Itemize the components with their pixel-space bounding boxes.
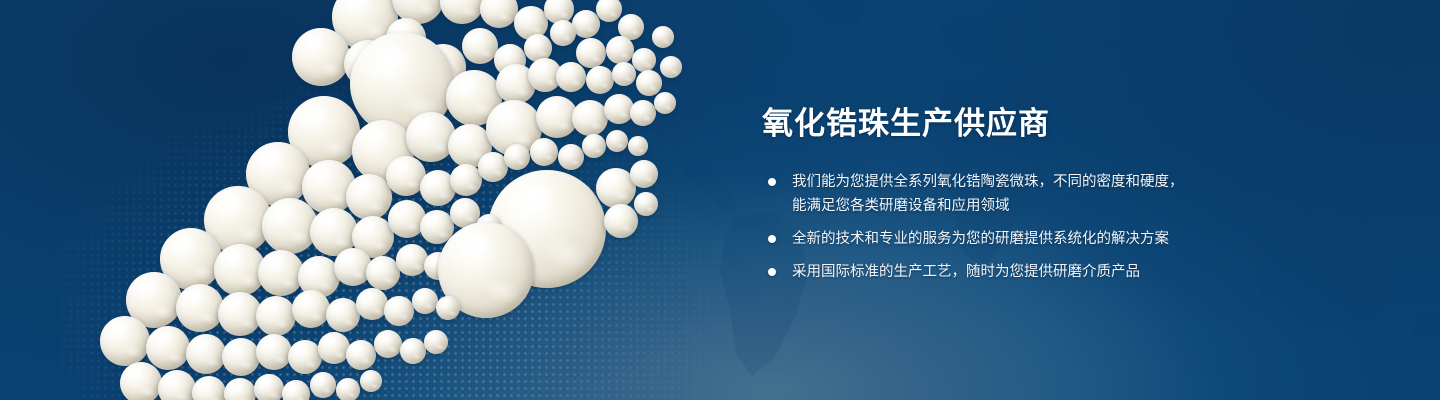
list-item: 我们能为您提供全系列氧化锆陶瓷微珠，不同的密度和硬度， 能满足您各类研磨设备和应… bbox=[762, 170, 1402, 218]
halftone-texture bbox=[60, 0, 820, 400]
list-item-line: 全新的技术和专业的服务为您的研磨提供系统化的解决方案 bbox=[792, 227, 1402, 251]
bullet-dot-icon bbox=[768, 178, 776, 186]
list-item: 采用国际标准的生产工艺，随时为您提供研磨介质产品 bbox=[762, 260, 1402, 284]
list-item-line: 采用国际标准的生产工艺，随时为您提供研磨介质产品 bbox=[792, 260, 1402, 284]
list-item: 全新的技术和专业的服务为您的研磨提供系统化的解决方案 bbox=[762, 227, 1402, 251]
hero-banner: 氧化锆珠生产供应商 我们能为您提供全系列氧化锆陶瓷微珠，不同的密度和硬度， 能满… bbox=[0, 0, 1440, 400]
page-title: 氧化锆珠生产供应商 bbox=[762, 104, 1402, 144]
bullet-dot-icon bbox=[768, 235, 776, 243]
feature-list: 我们能为您提供全系列氧化锆陶瓷微珠，不同的密度和硬度， 能满足您各类研磨设备和应… bbox=[762, 170, 1402, 284]
bullet-dot-icon bbox=[768, 268, 776, 276]
list-item-line: 我们能为您提供全系列氧化锆陶瓷微珠，不同的密度和硬度， bbox=[792, 170, 1402, 194]
list-item-line: 能满足您各类研磨设备和应用领域 bbox=[792, 194, 1402, 218]
banner-copy: 氧化锆珠生产供应商 我们能为您提供全系列氧化锆陶瓷微珠，不同的密度和硬度， 能满… bbox=[762, 104, 1402, 284]
